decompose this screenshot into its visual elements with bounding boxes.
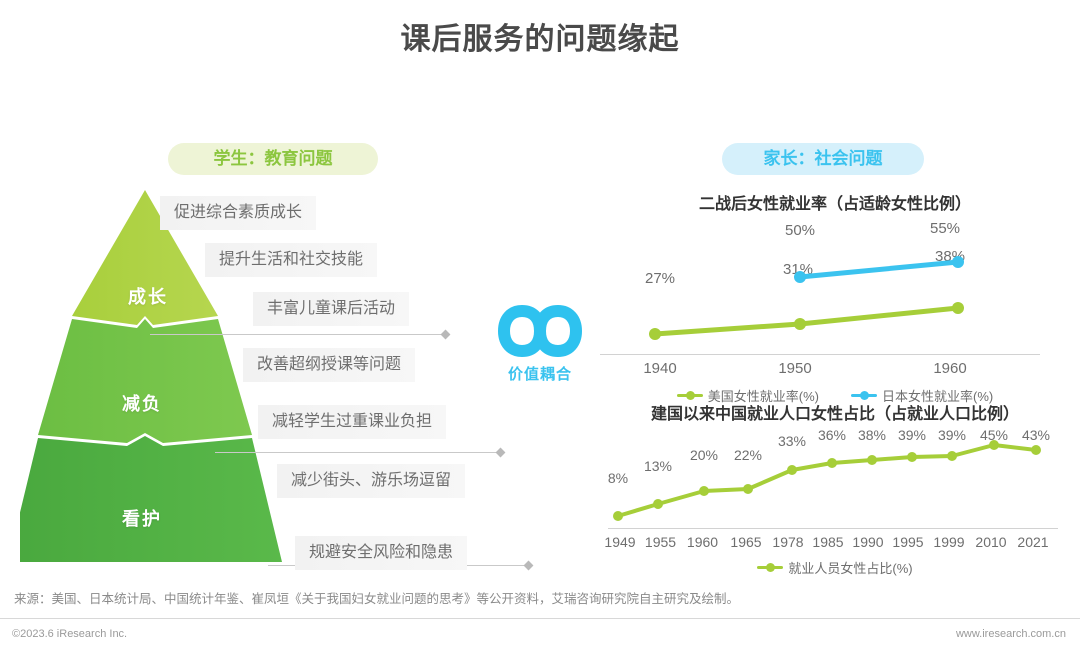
- page-title: 课后服务的问题缘起: [0, 14, 1080, 58]
- badge-parent-social: 家长：社会问题: [722, 143, 924, 175]
- x-tick: 1950: [720, 360, 870, 377]
- value-coupling-group: 价值耦合: [475, 305, 605, 384]
- x-tick: 1995: [888, 534, 928, 550]
- chart-1-x-ticks: 1940 1950 1960: [600, 360, 1040, 377]
- x-tick: 1965: [724, 534, 768, 550]
- x-tick: 1955: [640, 534, 681, 550]
- x-tick: 1985: [808, 534, 848, 550]
- chart-2-axis: [608, 528, 1058, 529]
- list-item: 丰富儿童课后活动: [253, 292, 409, 326]
- list-item: 减轻学生过重课业负担: [258, 405, 446, 439]
- list-item: 改善超纲授课等问题: [243, 348, 415, 382]
- tier-separator-2: [215, 452, 500, 453]
- pyramid-tier-care: [20, 436, 282, 562]
- list-item: 提升生活和社交技能: [205, 243, 377, 277]
- legend-label-china: 就业人员女性占比(%): [788, 558, 912, 577]
- chart-women-employment-rate: 二战后女性就业率（占适龄女性比例） 50% 55% 27% 31% 38%: [600, 190, 1070, 390]
- x-tick: 1978: [768, 534, 808, 550]
- chart-2-x-ticks: 1949 1955 1960 1965 1978 1985 1990 1995 …: [600, 534, 1070, 550]
- x-tick: 1960: [681, 534, 724, 550]
- chart-1-plot: [600, 212, 1070, 352]
- pyramid-label-reduce: 减负: [122, 390, 162, 416]
- value-coupling-label: 价值耦合: [475, 363, 605, 384]
- chart-1-axis: [600, 354, 1040, 355]
- x-tick: 2010: [970, 534, 1012, 550]
- x-tick: 1960: [870, 360, 1030, 377]
- pyramid-label-care: 看护: [122, 505, 162, 531]
- slide-canvas: 课后服务的问题缘起 学生：教育问题 成长 减负: [0, 0, 1080, 656]
- legend-swatch-jp: [851, 394, 877, 397]
- pyramid-tier-reduce: [38, 319, 252, 443]
- list-item: 促进综合素质成长: [160, 196, 316, 230]
- legend-swatch-china: [757, 566, 783, 569]
- x-tick: 1990: [848, 534, 888, 550]
- chart-2-plot: [600, 418, 1070, 528]
- legend-item-china: 就业人员女性占比(%): [757, 558, 912, 577]
- legend-swatch-us: [677, 394, 703, 397]
- footer-copyright: ©2023.6 iResearch Inc.: [12, 628, 127, 640]
- footer-divider: [0, 618, 1080, 619]
- list-item: 减少街头、游乐场逗留: [277, 464, 465, 498]
- charts-panel: 二战后女性就业率（占适龄女性比例） 50% 55% 27% 31% 38%: [600, 190, 1070, 580]
- footer-website: www.iresearch.com.cn: [956, 628, 1066, 640]
- x-tick: 2021: [1012, 534, 1054, 550]
- x-tick: 1999: [928, 534, 970, 550]
- chart-china-female-share: 建国以来中国就业人口女性占比（占就业人口比例） 8% 13% 20% 22% 3…: [600, 400, 1070, 580]
- list-item: 规避安全风险和隐患: [295, 536, 467, 570]
- infinity-icon: [497, 305, 583, 357]
- pyramid-label-growth: 成长: [128, 283, 168, 309]
- x-tick: 1940: [600, 360, 720, 377]
- x-tick: 1949: [600, 534, 640, 550]
- tier-separator-1: [150, 334, 445, 335]
- badge-student-education: 学生：教育问题: [168, 143, 378, 175]
- chart-2-legend: 就业人员女性占比(%): [600, 558, 1070, 577]
- source-note: 来源：美国、日本统计局、中国统计年鉴、崔凤垣《关于我国妇女就业问题的思考》等公开…: [14, 588, 1064, 607]
- chart-1-title: 二战后女性就业率（占适龄女性比例）: [600, 190, 1070, 214]
